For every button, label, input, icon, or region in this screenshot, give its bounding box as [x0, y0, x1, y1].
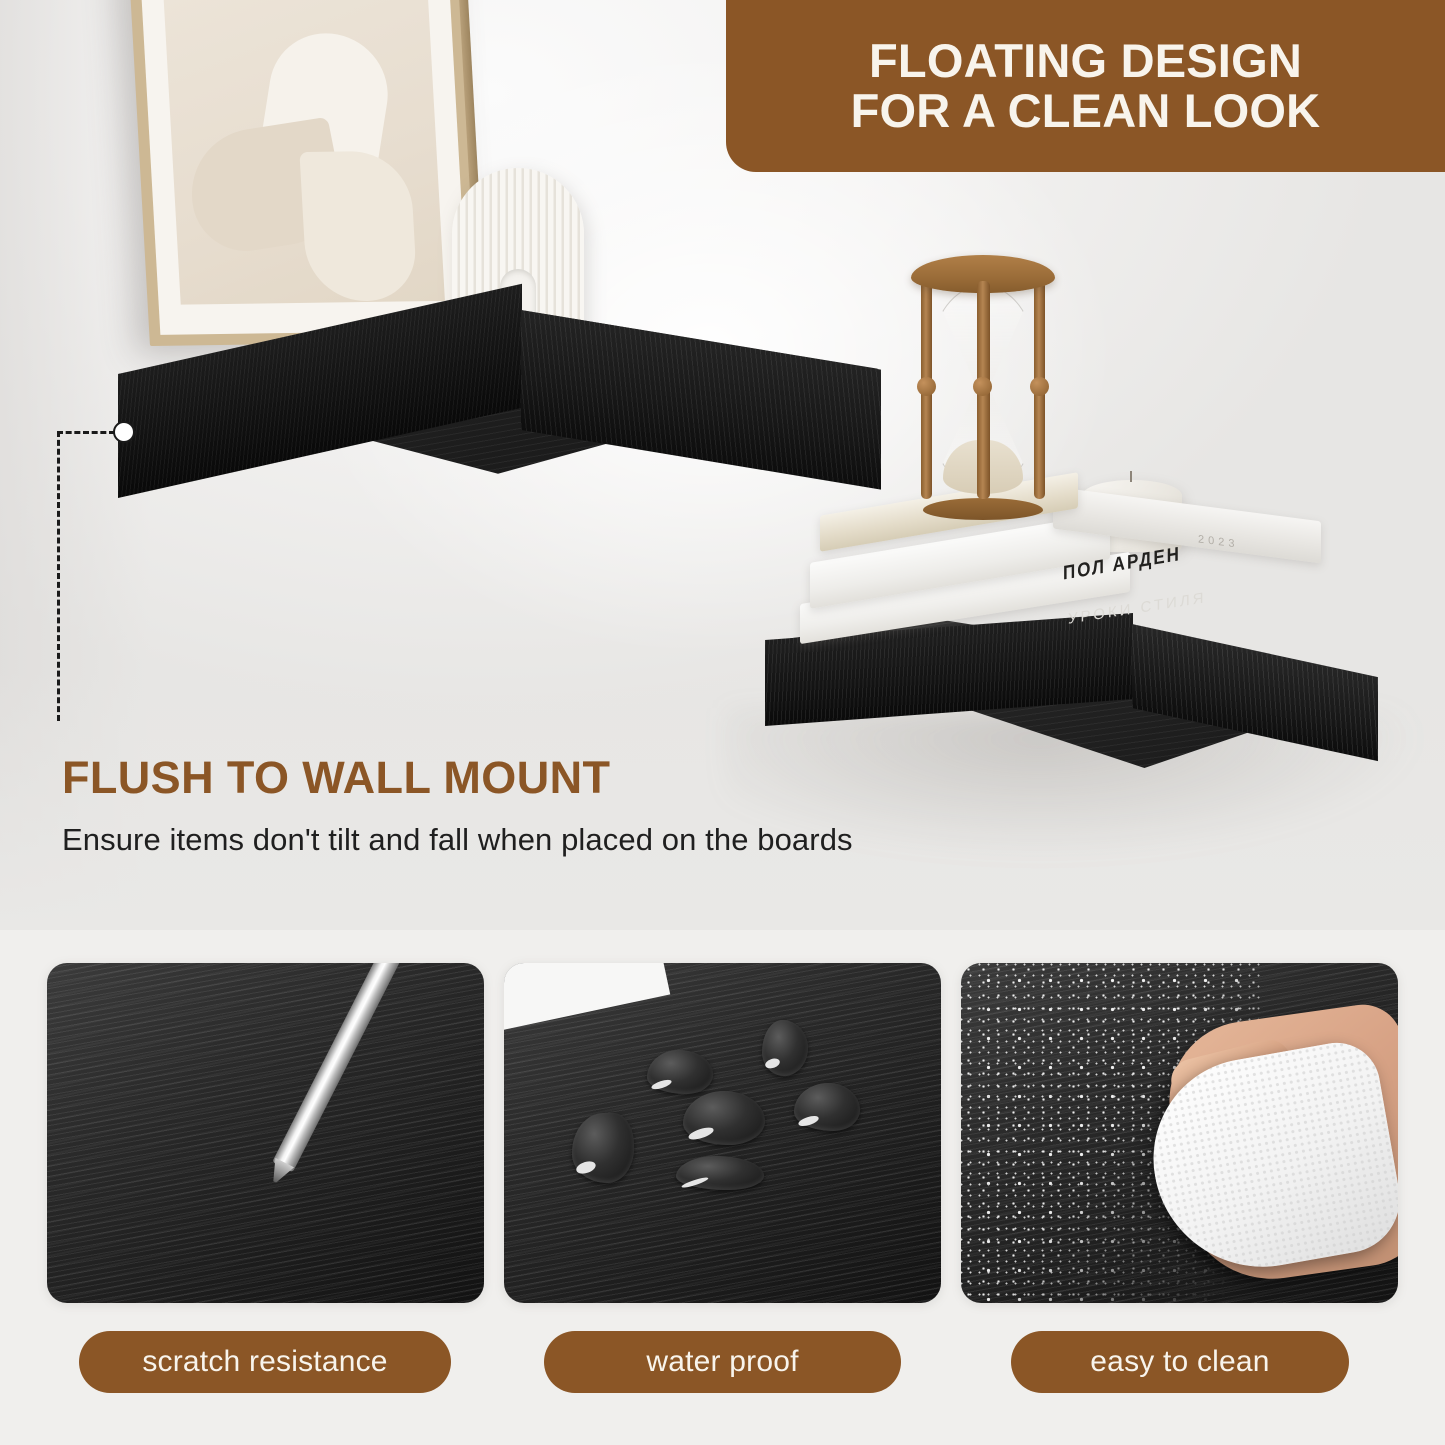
- water-droplet: [683, 1091, 765, 1145]
- easy-to-clean-photo: [961, 963, 1398, 1303]
- shelf-front-edge: [118, 284, 522, 498]
- badge-water-proof: water proof: [544, 1331, 901, 1393]
- hourglass-bottom-cap: [923, 498, 1043, 520]
- wood-surface: [47, 963, 484, 1303]
- water-proof-photo: [504, 963, 941, 1303]
- art-shape-c: [299, 151, 417, 302]
- callout-leader-horizontal: [57, 431, 115, 434]
- abstract-artwork: [163, 0, 445, 305]
- hourglass-knob-right: [1030, 377, 1049, 396]
- product-infographic: УРОКИ СТИЛЯ ПОЛ АРДЕН 2023 FLOATING DESI…: [0, 0, 1445, 1445]
- hourglass-knob-middle: [973, 377, 992, 396]
- badge-scratch-resistance: scratch resistance: [79, 1331, 451, 1393]
- lower-right-floating-shelf: [765, 618, 1377, 778]
- frame-mat: [140, 0, 469, 335]
- banner-line-1: FLOATING DESIGN: [869, 36, 1302, 86]
- shelf-side-edge: [521, 310, 881, 490]
- feature-heading: FLUSH TO WALL MOUNT: [62, 752, 610, 804]
- water-droplet: [762, 1020, 808, 1076]
- scratch-resistance-photo: [47, 963, 484, 1303]
- badge-easy-to-clean: easy to clean: [1011, 1331, 1349, 1393]
- water-droplet: [647, 1050, 713, 1094]
- water-droplet: [676, 1156, 764, 1190]
- banner-line-2: FOR A CLEAN LOOK: [851, 86, 1321, 136]
- feature-subheading: Ensure items don't tilt and fall when pl…: [62, 822, 853, 858]
- callout-leader-vertical: [57, 431, 60, 721]
- water-droplet: [572, 1113, 634, 1183]
- header-banner: FLOATING DESIGN FOR A CLEAN LOOK: [726, 0, 1445, 172]
- hourglass-knob-left: [917, 377, 936, 396]
- hourglass-sand-timer: [903, 255, 1063, 520]
- framed-art-print: [128, 0, 480, 346]
- upper-left-floating-shelf: [118, 310, 878, 550]
- water-droplet: [794, 1083, 860, 1131]
- callout-marker-dot: [113, 421, 135, 443]
